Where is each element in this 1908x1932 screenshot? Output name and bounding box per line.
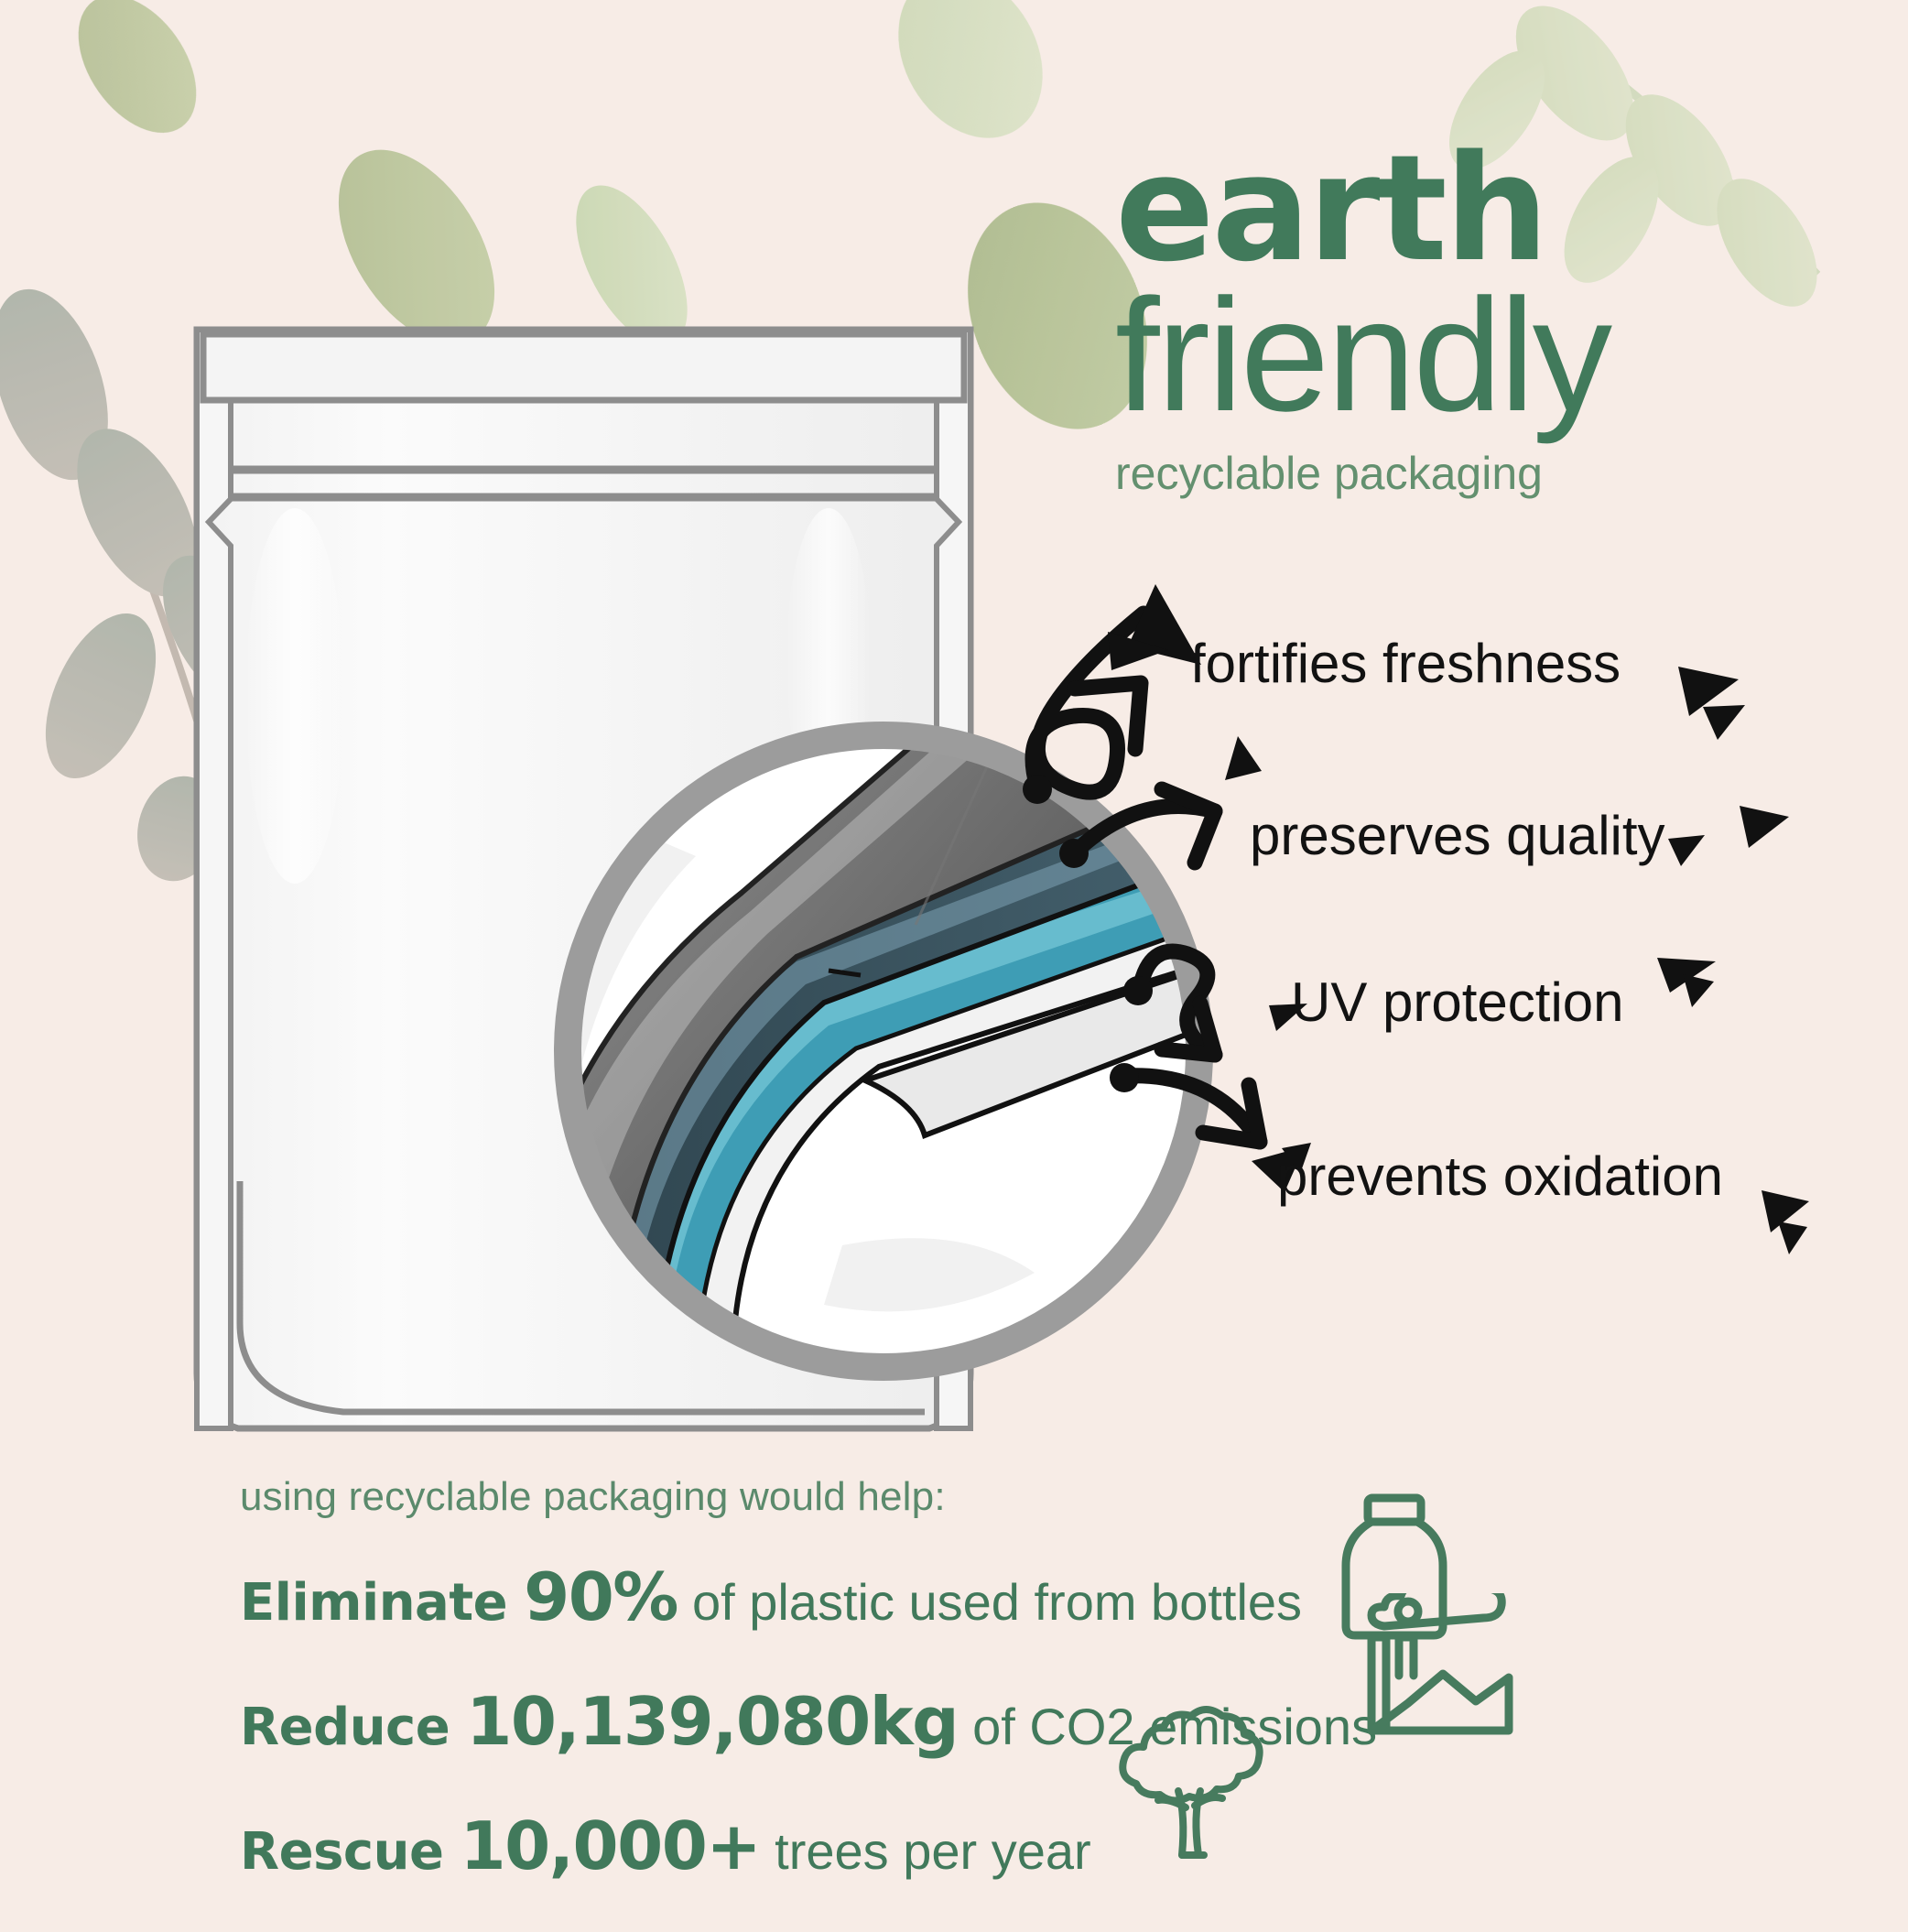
- stat-tail: trees per year: [775, 1821, 1091, 1881]
- stat-verb: Rescue: [240, 1822, 443, 1882]
- factory-icon: [1362, 1593, 1518, 1740]
- feature-label-prevents-oxidation: prevents oxidation: [1277, 1145, 1723, 1208]
- headline-subtitle: recyclable packaging: [1115, 447, 1838, 500]
- stat-value: 10,139,080kg: [466, 1683, 958, 1760]
- headline-block: earth friendly recyclable packaging: [1115, 137, 1838, 500]
- feature-label-uv-protection: UV protection: [1291, 971, 1624, 1034]
- stat-verb: Eliminate: [240, 1573, 507, 1633]
- feature-label-preserves-quality: preserves quality: [1250, 804, 1665, 867]
- stat-value: 90%: [524, 1558, 678, 1635]
- stat-value: 10,000+: [460, 1807, 760, 1884]
- feature-label-fortifies-freshness: fortifies freshness: [1190, 632, 1621, 695]
- stat-verb: Reduce: [240, 1698, 450, 1757]
- headline-line-1: earth: [1115, 137, 1838, 281]
- stat-row-trees: Rescue 10,000+ trees per year: [240, 1807, 1613, 1884]
- tree-icon: [1103, 1705, 1277, 1879]
- infographic-canvas: earth friendly recyclable packaging fort…: [0, 0, 1908, 1909]
- headline-line-2: friendly: [1115, 276, 1838, 436]
- stat-tail: of plastic used from bottles: [692, 1572, 1302, 1632]
